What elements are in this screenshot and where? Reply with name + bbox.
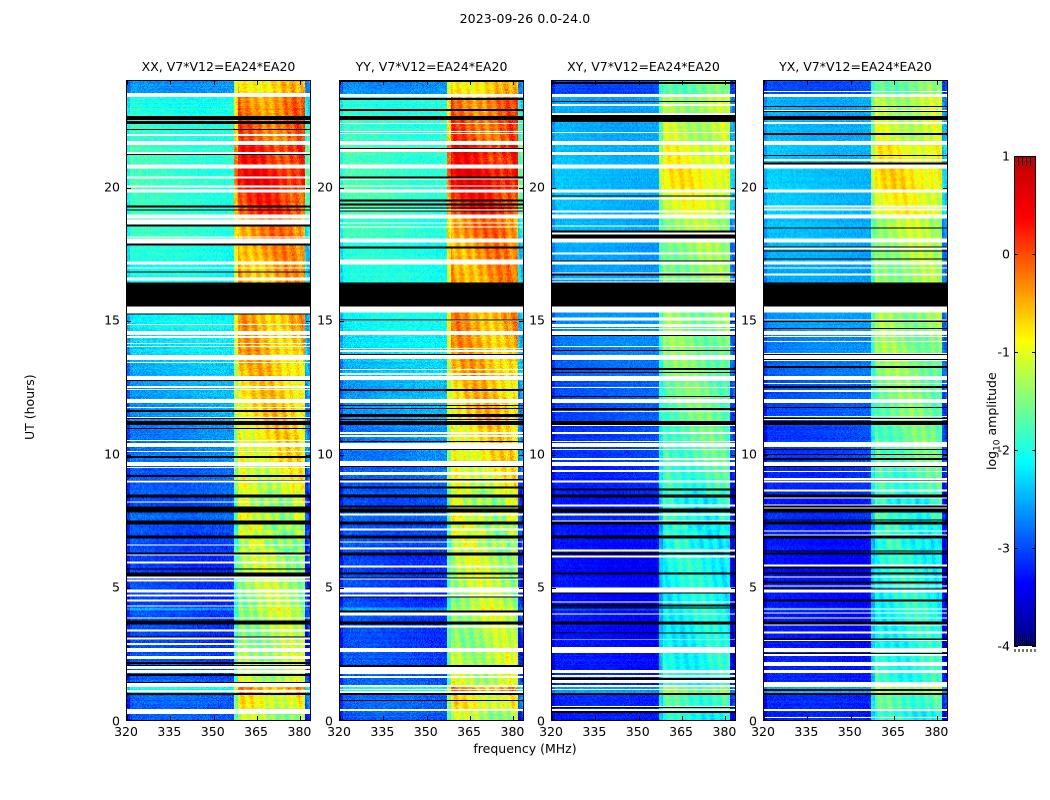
y-tick (764, 588, 768, 589)
x-tick-label: 350 (838, 724, 862, 739)
spectrum-figure: 2023-09-26 0.0-24.0 XX, V7*V12=EA24*EA20… (0, 0, 1050, 800)
panel-title-xy: XY, V7*V12=EA24*EA20 (551, 59, 736, 74)
x-tick-label: 365 (881, 724, 905, 739)
y-tick-right (943, 588, 947, 589)
y-tick-label: 20 (727, 179, 757, 194)
colorbar-under-marker (1014, 649, 1036, 652)
x-tick-top (300, 81, 301, 85)
x-tick (340, 716, 341, 720)
colorbar-tick (1014, 352, 1018, 353)
y-tick (340, 588, 344, 589)
x-tick (682, 716, 683, 720)
x-tick-top (214, 81, 215, 85)
x-tick-top (257, 81, 258, 85)
y-tick-label: 5 (515, 580, 545, 595)
y-axis-label: UT (hours) (22, 374, 37, 440)
y-tick-label: 5 (90, 580, 120, 595)
x-tick-top (682, 81, 683, 85)
y-tick-label: 10 (90, 446, 120, 461)
x-tick (127, 716, 128, 720)
y-tick-label: 15 (727, 313, 757, 328)
x-tick-label: 380 (925, 724, 949, 739)
colorbar-tick-right (1032, 450, 1036, 451)
y-tick-label: 15 (90, 313, 120, 328)
y-tick (127, 455, 131, 456)
y-tick-label: 20 (90, 179, 120, 194)
x-tick-top (807, 81, 808, 85)
colorbar-tick-right (1032, 548, 1036, 549)
panel-title-xx: XX, V7*V12=EA24*EA20 (126, 59, 311, 74)
colorbar-tick-label: -4 (984, 639, 1010, 654)
x-tick-top (595, 81, 596, 85)
x-tick-label: 365 (669, 724, 693, 739)
heatmap-image-xy (552, 81, 735, 720)
x-tick-top (937, 81, 938, 85)
colorbar-tick-label: -1 (984, 345, 1010, 360)
x-tick (214, 716, 215, 720)
x-tick-top (894, 81, 895, 85)
y-tick (552, 188, 556, 189)
x-tick (937, 716, 938, 720)
colorbar-tick-right (1032, 156, 1036, 157)
colorbar-end-hatch (1030, 157, 1031, 166)
x-tick-label: 335 (582, 724, 606, 739)
x-tick (470, 716, 471, 720)
x-tick-top (470, 81, 471, 85)
y-tick-label: 5 (303, 580, 333, 595)
x-tick-label: 335 (157, 724, 181, 739)
heatmap-image-xx (127, 81, 310, 720)
x-tick-top (170, 81, 171, 85)
x-tick-top (127, 81, 128, 85)
y-tick-label: 10 (727, 446, 757, 461)
heatmap-panel-xx[interactable] (126, 80, 311, 721)
y-tick-label: 10 (515, 446, 545, 461)
heatmap-panel-xy[interactable] (551, 80, 736, 721)
x-tick (639, 716, 640, 720)
panel-title-yy: YY, V7*V12=EA24*EA20 (339, 59, 524, 74)
y-tick-right (943, 188, 947, 189)
colorbar-end-hatch (1022, 157, 1023, 166)
x-tick (894, 716, 895, 720)
colorbar-end-hatch (1018, 636, 1019, 645)
y-tick (127, 588, 131, 589)
x-tick-top (851, 81, 852, 85)
x-tick-label: 365 (244, 724, 268, 739)
colorbar-tick (1014, 450, 1018, 451)
y-tick (340, 188, 344, 189)
x-tick (851, 716, 852, 720)
y-tick-label: 20 (515, 179, 545, 194)
heatmap-image-yy (340, 81, 523, 720)
y-tick (340, 321, 344, 322)
x-tick-top (427, 81, 428, 85)
colorbar-tick-label: -2 (984, 443, 1010, 458)
colorbar[interactable] (1014, 156, 1036, 646)
y-tick (552, 588, 556, 589)
heatmap-panel-yy[interactable] (339, 80, 524, 721)
panel-title-yx: YX, V7*V12=EA24*EA20 (763, 59, 948, 74)
colorbar-tick-right (1032, 254, 1036, 255)
x-tick (427, 716, 428, 720)
x-tick (383, 716, 384, 720)
x-tick-label: 335 (794, 724, 818, 739)
y-tick (340, 455, 344, 456)
y-tick-label: 10 (303, 446, 333, 461)
x-tick-top (340, 81, 341, 85)
x-tick-top (725, 81, 726, 85)
colorbar-end-hatch (1026, 157, 1027, 166)
colorbar-tick (1014, 254, 1018, 255)
y-tick-label: 0 (303, 714, 333, 729)
y-tick (552, 321, 556, 322)
y-tick (764, 455, 768, 456)
colorbar-tick-right (1032, 352, 1036, 353)
colorbar-end-hatch (1022, 636, 1023, 645)
y-tick-label: 15 (515, 313, 545, 328)
colorbar-tick-right (1032, 646, 1036, 647)
x-tick-top (764, 81, 765, 85)
colorbar-tick (1014, 548, 1018, 549)
x-tick (300, 716, 301, 720)
x-axis-label: frequency (MHz) (0, 741, 1050, 756)
x-tick-top (513, 81, 514, 85)
y-tick-right (943, 455, 947, 456)
y-tick-label: 0 (727, 714, 757, 729)
colorbar-end-hatch (1018, 157, 1019, 166)
y-tick (127, 188, 131, 189)
colorbar-tick (1014, 646, 1018, 647)
x-tick-label: 350 (626, 724, 650, 739)
heatmap-panel-yx[interactable] (763, 80, 948, 721)
x-tick-label: 350 (201, 724, 225, 739)
x-tick-top (639, 81, 640, 85)
y-tick (127, 321, 131, 322)
x-tick (807, 716, 808, 720)
figure-suptitle: 2023-09-26 0.0-24.0 (0, 11, 1050, 26)
x-tick (552, 716, 553, 720)
x-tick (257, 716, 258, 720)
colorbar-end-hatch (1030, 636, 1031, 645)
x-tick-top (552, 81, 553, 85)
x-tick (170, 716, 171, 720)
heatmap-image-yx (764, 81, 947, 720)
y-tick-label: 20 (303, 179, 333, 194)
y-tick-label: 15 (303, 313, 333, 328)
y-tick (552, 455, 556, 456)
x-tick-label: 365 (457, 724, 481, 739)
colorbar-tick-label: 1 (984, 149, 1010, 164)
x-tick (595, 716, 596, 720)
colorbar-tick-label: -3 (984, 541, 1010, 556)
y-tick-label: 0 (515, 714, 545, 729)
y-tick-right (943, 321, 947, 322)
colorbar-tick-label: 0 (984, 247, 1010, 262)
y-tick-label: 5 (727, 580, 757, 595)
x-tick-label: 335 (370, 724, 394, 739)
y-tick (764, 321, 768, 322)
colorbar-end-hatch (1026, 636, 1027, 645)
y-tick (764, 188, 768, 189)
x-tick-label: 350 (414, 724, 438, 739)
y-tick-label: 0 (90, 714, 120, 729)
x-tick (764, 716, 765, 720)
x-tick-top (383, 81, 384, 85)
